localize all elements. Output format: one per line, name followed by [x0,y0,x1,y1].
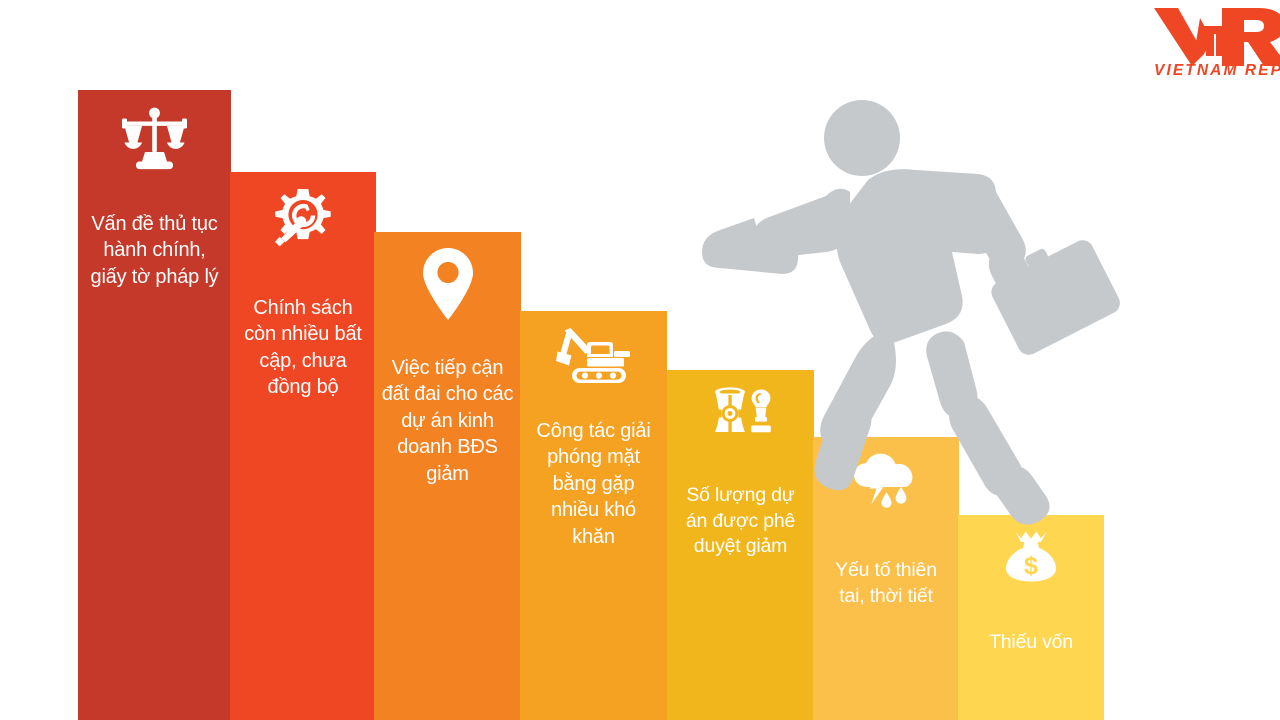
bar-item-4: Công tác giải phóng mặt bằng gặp nhiều k… [520,311,667,720]
scales-of-justice-icon [117,104,193,179]
bar-label-3: Việc tiếp cận đất đai cho các dự án kinh… [382,355,514,487]
vnr-logo: VIETNAM REPORT [1152,4,1280,84]
vnr-logo-icon [1152,4,1280,66]
excavator-icon [554,325,634,392]
bar-item-2: Chính sách còn nhiều bất cập, chưa đồng … [230,172,376,720]
logo-wordmark: VIETNAM REPORT [1154,62,1280,80]
gear-wrench-icon [268,186,338,261]
running-businessman-silhouette [690,88,1120,563]
bar-item-3: Việc tiếp cận đất đai cho các dự án kinh… [374,232,521,720]
location-pin-icon [420,246,476,329]
bar-label-6: Yếu tố thiên tai, thời tiết [835,558,937,609]
infographic-canvas: Vấn đề thủ tục hành chính, giấy tờ pháp … [0,0,1280,720]
bar-label-1: Vấn đề thủ tục hành chính, giấy tờ pháp … [91,211,219,290]
bar-label-7: Thiếu vốn [989,630,1073,656]
bar-item-1: Vấn đề thủ tục hành chính, giấy tờ pháp … [78,90,231,720]
bar-label-4: Công tác giải phóng mặt bằng gặp nhiều k… [536,418,650,550]
bar-label-2: Chính sách còn nhiều bất cập, chưa đồng … [244,295,362,401]
